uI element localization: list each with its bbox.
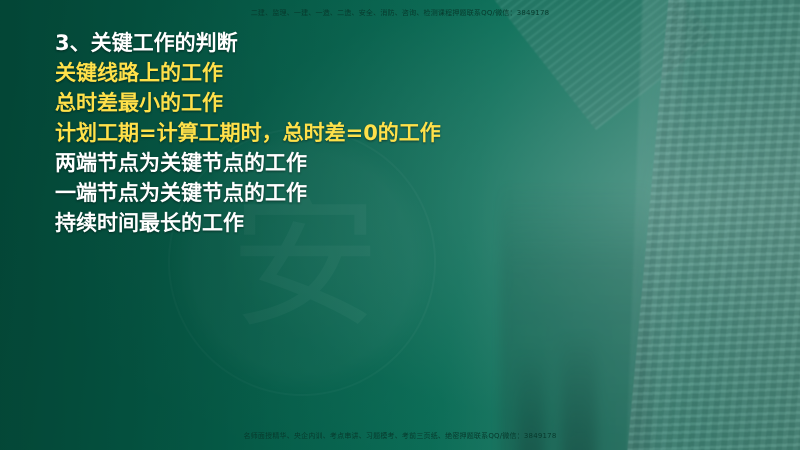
slide-bullet-4: 两端节点为关键节点的工作 xyxy=(55,148,695,178)
promo-banner-top: 二建、监理、一建、一造、二造、安全、消防、咨询、检测课程押题联系QQ/微信：38… xyxy=(0,8,800,18)
slide-bullet-1: 关键线路上的工作 xyxy=(55,58,695,88)
slide-bullet-6: 持续时间最长的工作 xyxy=(55,208,695,238)
slide-heading: 3、关键工作的判断 xyxy=(55,28,695,58)
promo-banner-bottom: 名师面授精华、央企内训、考点串讲、习题模考、考前三页纸、绝密押题联系QQ/微信：… xyxy=(0,431,800,441)
slide-bullet-5: 一端节点为关键节点的工作 xyxy=(55,178,695,208)
slide-body: 3、关键工作的判断关键线路上的工作总时差最小的工作计划工期=计算工期时，总时差=… xyxy=(55,28,695,238)
slide-canvas: 安 二建、监理、一建、一造、二造、安全、消防、咨询、检测课程押题联系QQ/微信：… xyxy=(0,0,800,450)
slide-bullet-2: 总时差最小的工作 xyxy=(55,88,695,118)
slide-bullet-3: 计划工期=计算工期时，总时差=0的工作 xyxy=(55,118,695,148)
